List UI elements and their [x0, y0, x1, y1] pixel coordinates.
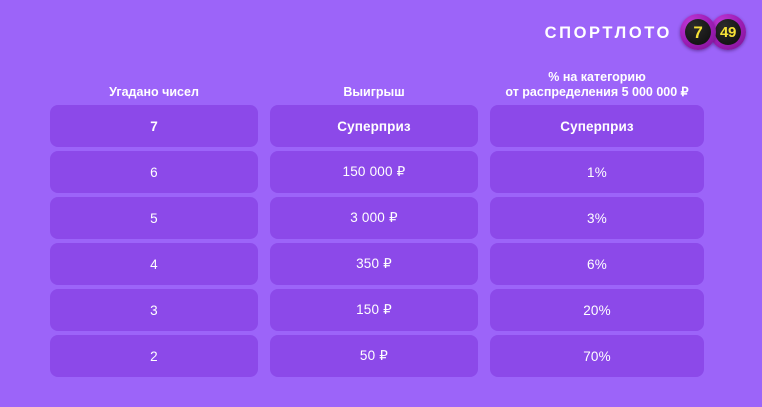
cell-matched-numbers: 7 [50, 105, 258, 147]
sportloto-logo[interactable]: СПОРТЛОТО 7 49 [545, 14, 746, 50]
cell-percent: 1% [490, 151, 704, 193]
cell-percent: 3% [490, 197, 704, 239]
cell-percent: 6% [490, 243, 704, 285]
cell-percent: 70% [490, 335, 704, 377]
prize-table: Угадано чисел Выигрыш % на категорию от … [50, 62, 712, 377]
prize-table-page: СПОРТЛОТО 7 49 Угадано чисел Выигрыш [0, 0, 762, 407]
cell-matched-numbers: 3 [50, 289, 258, 331]
table-row: 3 150 ₽ 20% [50, 289, 712, 331]
logo-wordmark: СПОРТЛОТО [545, 23, 672, 42]
column-header-percent-category: % на категорию от распределения 5 000 00… [490, 70, 704, 102]
cell-prize: 50 ₽ [270, 335, 478, 377]
cell-prize: Суперприз [270, 105, 478, 147]
ball-number-label: 49 [720, 25, 736, 40]
table-row: 5 3 000 ₽ 3% [50, 197, 712, 239]
ball-inner-circle: 49 [715, 19, 741, 45]
cell-prize: 150 000 ₽ [270, 151, 478, 193]
table-row: 6 150 000 ₽ 1% [50, 151, 712, 193]
column-header-line-1: Угадано чисел [50, 85, 258, 100]
table-row: 4 350 ₽ 6% [50, 243, 712, 285]
cell-matched-numbers: 6 [50, 151, 258, 193]
ball-inner-circle: 7 [685, 19, 711, 45]
column-header-matched-numbers: Угадано чисел [50, 85, 258, 103]
lottery-ball-icon-7: 7 [680, 14, 716, 50]
cell-matched-numbers: 4 [50, 243, 258, 285]
cell-matched-numbers: 5 [50, 197, 258, 239]
cell-prize: 350 ₽ [270, 243, 478, 285]
cell-percent: Суперприз [490, 105, 704, 147]
logo-balls: 7 49 [680, 14, 746, 50]
cell-matched-numbers: 2 [50, 335, 258, 377]
table-header-row: Угадано чисел Выигрыш % на категорию от … [50, 62, 712, 102]
cell-prize: 3 000 ₽ [270, 197, 478, 239]
column-header-line-2: от распределения 5 000 000 ₽ [490, 85, 704, 100]
table-body: 7 Суперприз Суперприз 6 150 000 ₽ 1% 5 3… [50, 105, 712, 377]
column-header-line-1: Выигрыш [270, 85, 478, 100]
table-row: 7 Суперприз Суперприз [50, 105, 712, 147]
cell-prize: 150 ₽ [270, 289, 478, 331]
ball-number-label: 7 [693, 24, 702, 41]
column-header-prize: Выигрыш [270, 85, 478, 103]
cell-percent: 20% [490, 289, 704, 331]
column-header-line-1: % на категорию [490, 70, 704, 85]
table-row: 2 50 ₽ 70% [50, 335, 712, 377]
